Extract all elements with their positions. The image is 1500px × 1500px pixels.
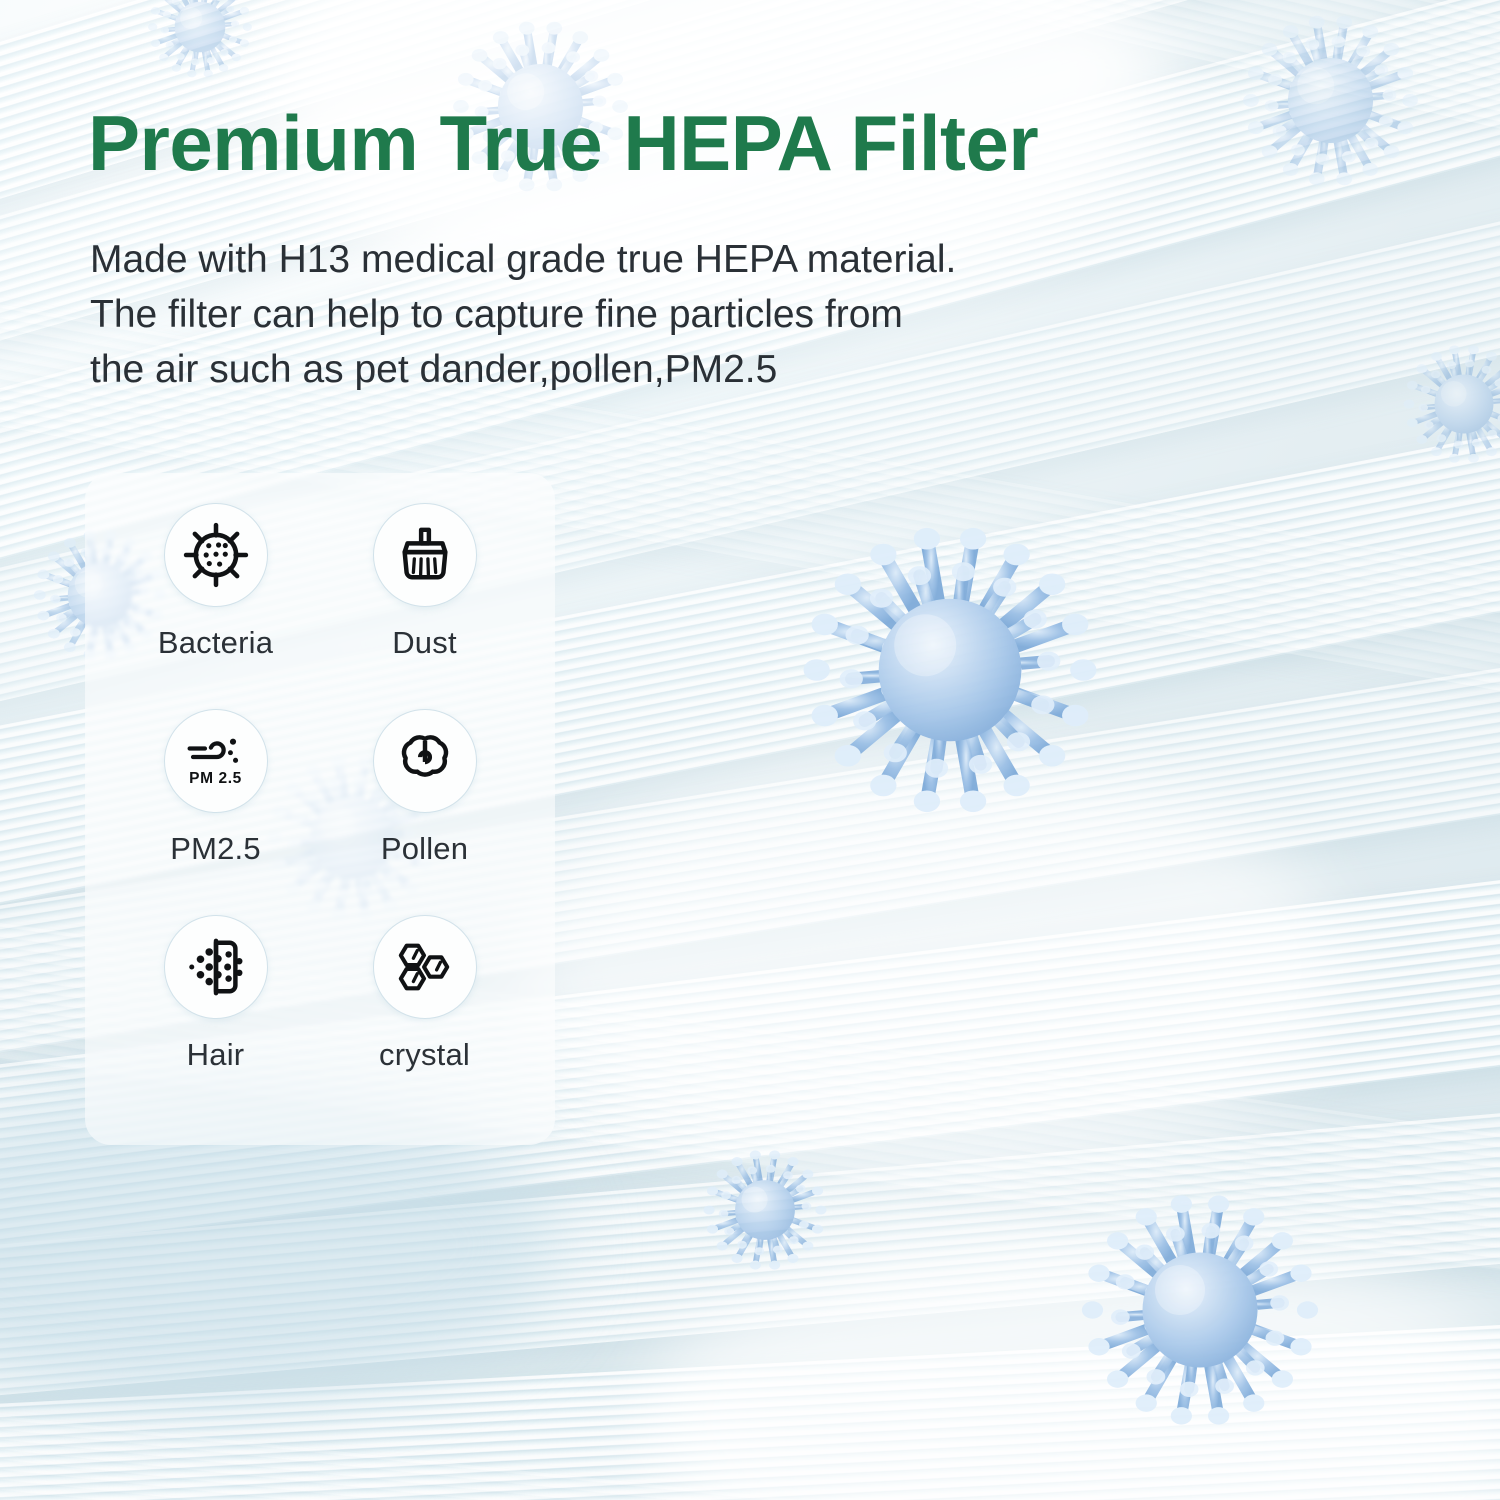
virus-particle-bottom-center [700,1145,830,1275]
feature-label-pm25: PM2.5 [170,833,261,864]
crystal-hexagon-icon [373,915,477,1019]
feature-item-hair: Hair [111,915,320,1121]
hair-filter-icon [164,915,268,1019]
feature-label-pollen: Pollen [381,833,468,864]
description-paragraph: Made with H13 medical grade true HEPA ma… [90,232,956,397]
pollen-flower-icon [373,709,477,813]
feature-item-pm25: PM 2.5 PM2.5 [111,709,320,915]
page-title: Premium True HEPA Filter [88,104,1038,182]
feature-label-bacteria: Bacteria [158,627,273,658]
feature-item-pollen: Pollen [320,709,529,915]
virus-particle-top-right [1238,8,1423,193]
feature-item-dust: Dust [320,503,529,709]
feature-item-crystal: crystal [320,915,529,1121]
product-feature-banner: Premium True HEPA Filter Made with H13 m… [0,0,1500,1500]
feature-label-dust: Dust [392,627,457,658]
pm25-icon-text: PM 2.5 [189,770,242,788]
description-line-2: The filter can help to capture fine part… [90,287,956,342]
virus-particle-bottom-right [1075,1185,1325,1435]
feature-item-bacteria: Bacteria [111,503,320,709]
pm25-wind-icon: PM 2.5 [164,709,268,813]
virus-particle-right-edge [1400,340,1500,468]
virus-particle-top-left-small [145,0,255,82]
broom-dust-icon [373,503,477,607]
feature-label-crystal: crystal [379,1039,470,1070]
bacteria-icon [164,503,268,607]
virus-particle-large-right [795,515,1105,825]
feature-label-hair: Hair [187,1039,245,1070]
description-line-3: the air such as pet dander,pollen,PM2.5 [90,342,956,397]
description-line-1: Made with H13 medical grade true HEPA ma… [90,232,956,287]
feature-card-panel: Bacteria [85,473,555,1145]
feature-grid: Bacteria [85,473,555,1145]
